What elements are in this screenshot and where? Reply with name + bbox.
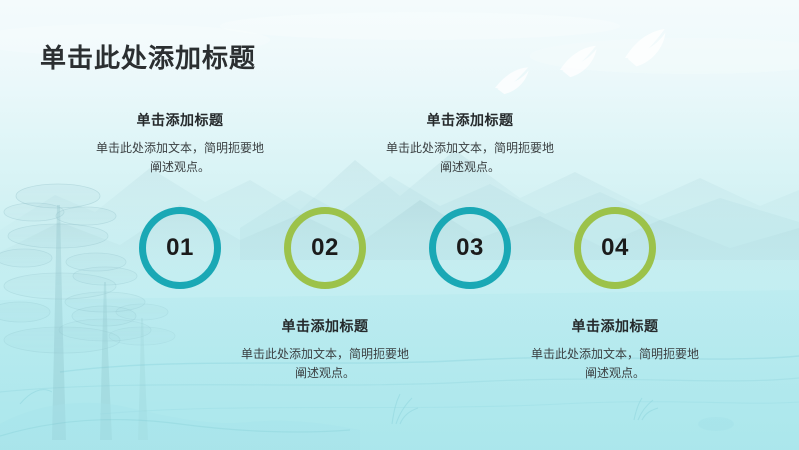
step-number-1: 01: [166, 236, 194, 260]
step-circle-4[interactable]: 04: [574, 207, 656, 289]
item-title-4: 单击添加标题: [510, 316, 720, 336]
step-circle-3[interactable]: 03: [429, 207, 511, 289]
item-body-3: 单击此处添加文本，简明扼要地阐述观点。: [365, 139, 575, 177]
step-circle-1[interactable]: 01: [139, 207, 221, 289]
item-title-2: 单击添加标题: [220, 316, 430, 336]
item-text-block-3: 单击添加标题 单击此处添加文本，简明扼要地阐述观点。: [365, 110, 575, 177]
shore-rocks: [0, 390, 734, 450]
item-text-block-2: 单击添加标题 单击此处添加文本，简明扼要地阐述观点。: [220, 316, 430, 383]
step-number-3: 03: [456, 236, 484, 260]
item-body-4: 单击此处添加文本，简明扼要地阐述观点。: [510, 345, 720, 383]
bird-icon: [493, 29, 671, 95]
item-title-1: 单击添加标题: [75, 110, 285, 130]
page-title: 单击此处添加标题: [40, 41, 256, 75]
item-title-3: 单击添加标题: [365, 110, 575, 130]
item-text-block-1: 单击添加标题 单击此处添加文本，简明扼要地阐述观点。: [75, 110, 285, 177]
step-number-4: 04: [601, 236, 629, 260]
step-circle-2[interactable]: 02: [284, 207, 366, 289]
item-text-block-4: 单击添加标题 单击此处添加文本，简明扼要地阐述观点。: [510, 316, 720, 383]
item-body-2: 单击此处添加文本，简明扼要地阐述观点。: [220, 345, 430, 383]
step-number-2: 02: [311, 236, 339, 260]
slide-canvas: 单击此处添加标题 单击添加标题 单击此处添加文本，简明扼要地阐述观点。 单击添加…: [0, 0, 799, 450]
item-body-1: 单击此处添加文本，简明扼要地阐述观点。: [75, 139, 285, 177]
